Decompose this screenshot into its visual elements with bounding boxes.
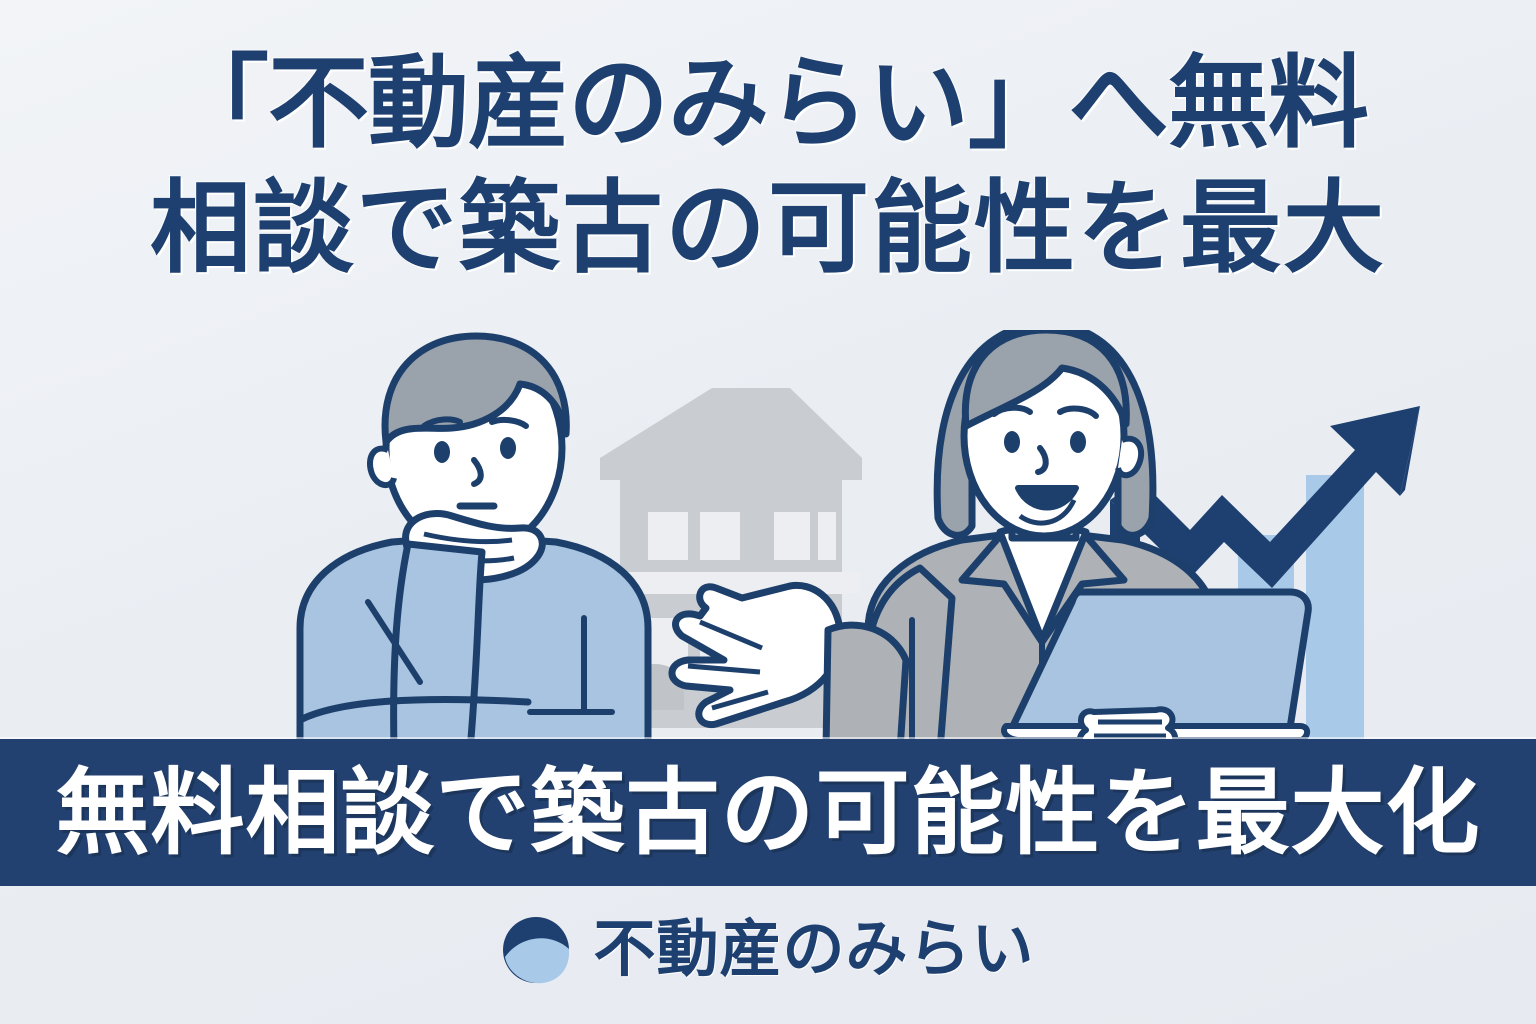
poster-canvas: 「不動産のみらい」へ無料 相談で築古の可能性を最大 [0,0,1536,1024]
banner-headline: 無料相談で築古の可能性を最大化 [55,763,1480,863]
banner-strip: 無料相談で築古の可能性を最大化 [0,739,1536,886]
thinking-man-figure [300,336,648,750]
brand-logo-icon [501,915,571,985]
brand-footer: 不動産のみらい [0,900,1536,1000]
brand-name: 不動産のみらい [593,915,1034,985]
page-title: 「不動産のみらい」へ無料 相談で築古の可能性を最大 [0,42,1536,292]
headline-line-2: 相談で築古の可能性を最大 [0,167,1536,292]
illustration-svg [0,330,1536,750]
hero-illustration [0,330,1536,750]
headline-line-1: 「不動産のみらい」へ無料 [0,42,1536,167]
